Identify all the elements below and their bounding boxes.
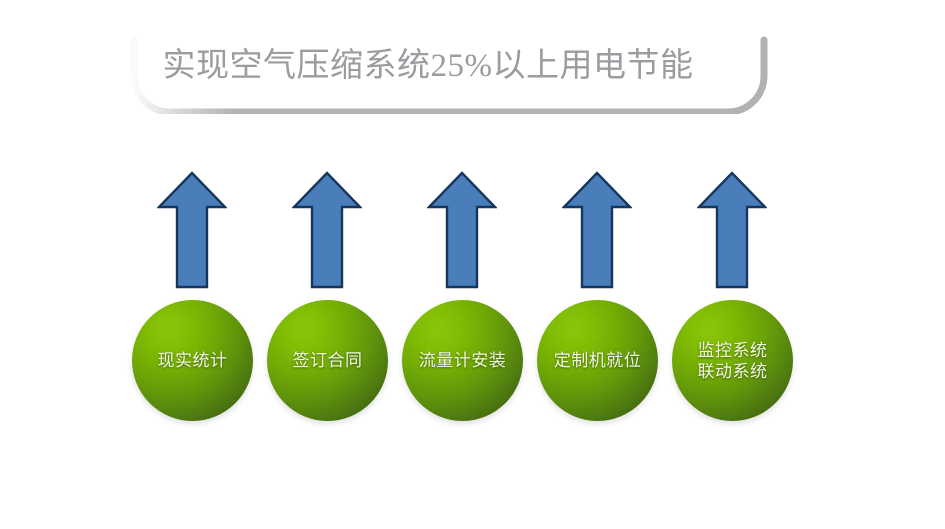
- step-node-2[interactable]: 签订合同: [267, 300, 388, 421]
- step-node-5[interactable]: 监控系统 联动系统: [672, 300, 793, 421]
- step-node-label: 现实统计: [154, 350, 232, 371]
- slide-canvas: 实现空气压缩系统25%以上用电节能: [0, 0, 945, 529]
- step-node-label: 监控系统 联动系统: [694, 340, 772, 382]
- step-node-label: 流量计安装: [415, 350, 511, 371]
- step-node-label: 定制机就位: [550, 350, 646, 371]
- step-circle-row: 现实统计 签订合同 流量计安装 定制机就位 监控系统 联动系统: [0, 0, 945, 529]
- step-node-3[interactable]: 流量计安装: [402, 300, 523, 421]
- step-node-1[interactable]: 现实统计: [132, 300, 253, 421]
- step-node-label: 签订合同: [289, 350, 367, 371]
- step-node-4[interactable]: 定制机就位: [537, 300, 658, 421]
